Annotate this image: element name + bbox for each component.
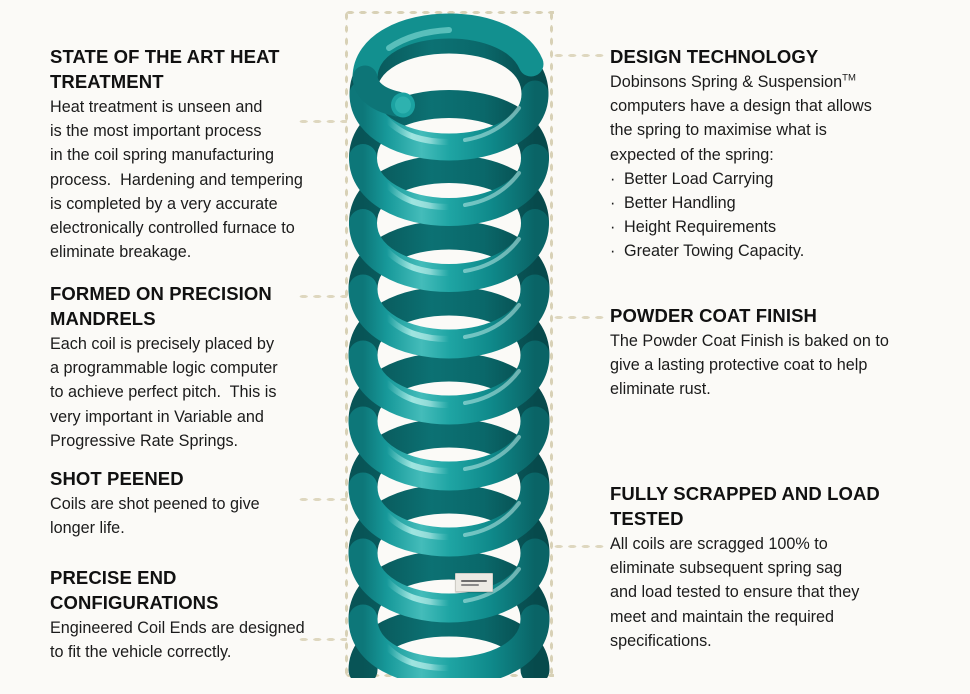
bullet-marker-icon: · (610, 191, 624, 215)
leader-line-load-tested (552, 544, 604, 549)
feature-heading: PRECISE END CONFIGURATIONS (50, 565, 350, 615)
feature-formed-on-precision-mandrels: FORMED ON PRECISION MANDRELS Each coil i… (50, 281, 350, 453)
feature-body: Heat treatment is unseen and is the most… (50, 95, 350, 264)
feature-heading: STATE OF THE ART HEAT TREATMENT (50, 44, 350, 94)
feature-body: Engineered Coil Ends are designed to fit… (50, 616, 350, 664)
trademark-symbol: TM (842, 73, 856, 84)
feature-heading: FORMED ON PRECISION MANDRELS (50, 281, 350, 331)
feature-design-technology: DESIGN TECHNOLOGY Dobinsons Spring & Sus… (610, 44, 915, 264)
feature-powder-coat-finish: POWDER COAT FINISH The Powder Coat Finis… (610, 303, 915, 402)
list-item: ·Greater Towing Capacity. (610, 239, 915, 263)
feature-body: Dobinsons Spring & SuspensionTM computer… (610, 70, 915, 167)
list-item: ·Better Handling (610, 191, 915, 215)
list-item: ·Height Requirements (610, 215, 915, 239)
feature-fully-scrapped-and-load-tested: FULLY SCRAPPED AND LOAD TESTED All coils… (610, 481, 915, 653)
feature-precise-end-configurations: PRECISE END CONFIGURATIONS Engineered Co… (50, 565, 350, 664)
leader-line-powder-coat (552, 315, 604, 320)
feature-heading: SHOT PEENED (50, 466, 350, 491)
infographic-canvas: STATE OF THE ART HEAT TREATMENT Heat tre… (0, 0, 970, 694)
brand-name: Dobinsons Spring & Suspension (610, 73, 842, 91)
list-item: ·Better Load Carrying (610, 167, 915, 191)
design-technology-bullet-list: ·Better Load Carrying ·Better Handling ·… (610, 167, 915, 264)
bullet-marker-icon: · (610, 239, 624, 263)
feature-body: Each coil is precisely placed by a progr… (50, 332, 350, 453)
feature-state-of-the-art-heat-treatment: STATE OF THE ART HEAT TREATMENT Heat tre… (50, 44, 350, 264)
spring-part-label-sticker (455, 573, 493, 592)
bullet-marker-icon: · (610, 215, 624, 239)
feature-heading: FULLY SCRAPPED AND LOAD TESTED (610, 481, 915, 531)
feature-heading: POWDER COAT FINISH (610, 303, 915, 328)
leader-line-design-technology (552, 53, 604, 58)
feature-body: Coils are shot peened to give longer lif… (50, 492, 350, 540)
bullet-marker-icon: · (610, 167, 624, 191)
feature-shot-peened: SHOT PEENED Coils are shot peened to giv… (50, 466, 350, 540)
feature-heading: DESIGN TECHNOLOGY (610, 44, 915, 69)
coil-spring-illustration (345, 8, 553, 678)
feature-body: All coils are scragged 100% to eliminate… (610, 532, 915, 653)
feature-body: The Powder Coat Finish is baked on to gi… (610, 329, 915, 402)
